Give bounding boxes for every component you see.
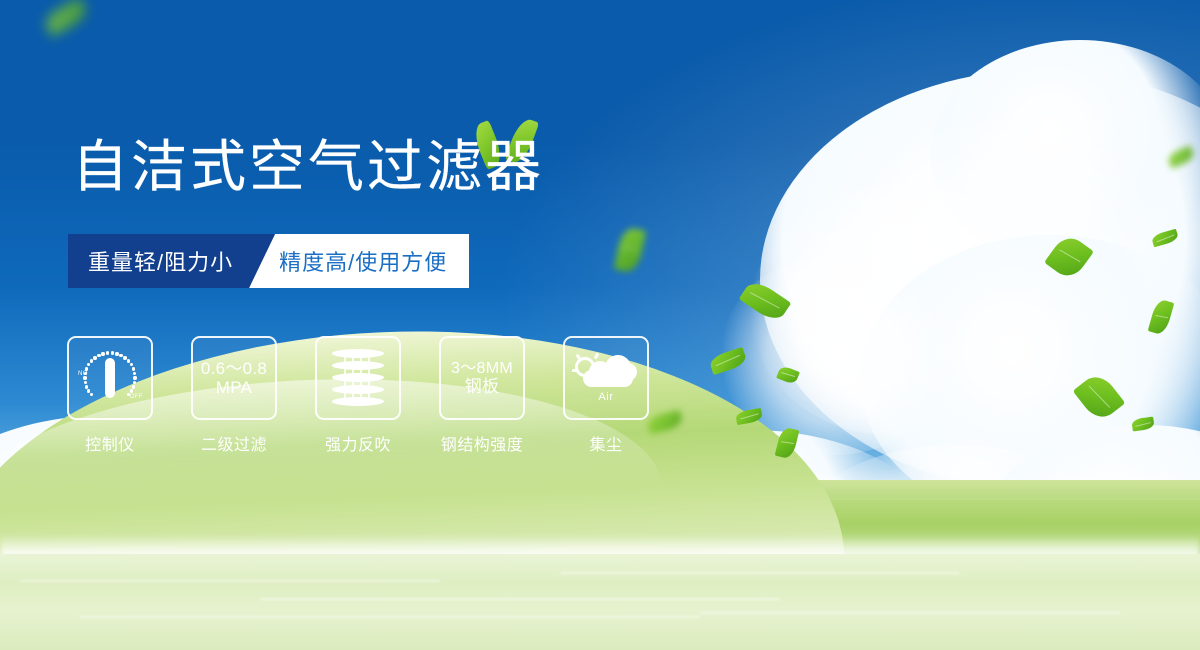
- feature-label: 控制仪: [85, 431, 135, 455]
- floating-leaf: [708, 347, 748, 375]
- floating-leaf: [1131, 417, 1154, 432]
- filter-coil-icon: [315, 336, 401, 420]
- cloud-shape: [760, 70, 1200, 490]
- feature-label: 强力反吹: [325, 431, 391, 455]
- dial-tick: [106, 351, 109, 354]
- dial-tick: [85, 385, 88, 388]
- dial-tick: [132, 367, 135, 370]
- dial-tick: [111, 351, 114, 354]
- tagline-badge: 重量轻/阻力小 精度高/使用方便: [68, 234, 469, 288]
- floating-leaf: [739, 277, 792, 324]
- feature-item-steel[interactable]: 3〜8MM 钢板 钢结构强度: [440, 336, 524, 455]
- feature-item-controller[interactable]: NO OFF 控制仪: [68, 336, 152, 455]
- feature-item-dust[interactable]: Air 集尘: [564, 336, 648, 455]
- dial-tick: [83, 376, 86, 379]
- feature-label: 钢结构强度: [441, 431, 524, 455]
- dial-tick: [90, 393, 93, 396]
- steel-thickness: 3〜8MM: [451, 360, 513, 378]
- dial-tick: [115, 352, 118, 355]
- feature-label: 二级过滤: [201, 431, 267, 455]
- dial-tick: [130, 389, 133, 392]
- tagline-right: 精度高/使用方便: [249, 234, 469, 288]
- near-grass: [0, 554, 1200, 650]
- floating-leaf: [1151, 229, 1179, 248]
- floating-leaf: [776, 365, 800, 385]
- air-label: Air: [598, 391, 613, 403]
- dial-tick: [132, 385, 135, 388]
- dial-tick: [84, 372, 87, 375]
- cloud-shape: [840, 120, 1170, 420]
- floating-leaf: [1073, 370, 1126, 424]
- dial-tick: [85, 367, 88, 370]
- dial-tick: [93, 356, 96, 359]
- feature-list: NO OFF 控制仪 0.6〜0.8 MPA 二级过滤: [68, 336, 648, 455]
- cloud-graphic: [575, 353, 637, 389]
- dial-tick: [133, 372, 136, 375]
- floating-leaf: [1044, 232, 1094, 283]
- floating-leaf: [41, 0, 90, 37]
- cloud-air-icon: Air: [563, 336, 649, 420]
- pressure-unit: MPA: [216, 378, 252, 397]
- page-title: 自洁式空气过滤器: [72, 140, 544, 196]
- cloud-shape: [750, 185, 1030, 435]
- dial-tick: [101, 352, 104, 355]
- coil-graphic: [332, 349, 384, 407]
- dial-tick: [133, 381, 136, 384]
- dial-tick: [127, 359, 130, 362]
- dial-tick: [133, 376, 136, 379]
- floating-leaf: [1148, 298, 1175, 336]
- dial-tick: [130, 363, 133, 366]
- dial-pointer: [105, 358, 115, 398]
- feature-item-blowback[interactable]: 强力反吹: [316, 336, 400, 455]
- cloud-base: [583, 370, 633, 387]
- dial-tick: [97, 354, 100, 357]
- feature-item-pressure[interactable]: 0.6〜0.8 MPA 二级过滤: [192, 336, 276, 455]
- steel-material: 钢板: [465, 377, 500, 396]
- cloud-shape: [930, 40, 1200, 270]
- dial-tick: [90, 359, 93, 362]
- dial-graphic: NO OFF: [79, 349, 141, 407]
- dial-label-off: OFF: [130, 394, 143, 401]
- feature-label: 集尘: [589, 431, 622, 455]
- dial-tick: [84, 381, 87, 384]
- hero-banner: 自洁式空气过滤器 重量轻/阻力小 精度高/使用方便 NO OFF 控制仪 0.6…: [0, 0, 1200, 650]
- steel-plate-text-icon: 3〜8MM 钢板: [439, 336, 525, 420]
- dial-tick: [119, 354, 122, 357]
- floating-leaf: [614, 226, 647, 274]
- grass-field: [0, 480, 1200, 650]
- pressure-text-icon: 0.6〜0.8 MPA: [191, 336, 277, 420]
- floating-leaf: [1166, 145, 1195, 168]
- dial-tick: [87, 363, 90, 366]
- pressure-range: 0.6〜0.8: [201, 359, 267, 378]
- tagline-left: 重量轻/阻力小: [68, 234, 275, 288]
- dial-gauge-icon: NO OFF: [67, 336, 153, 420]
